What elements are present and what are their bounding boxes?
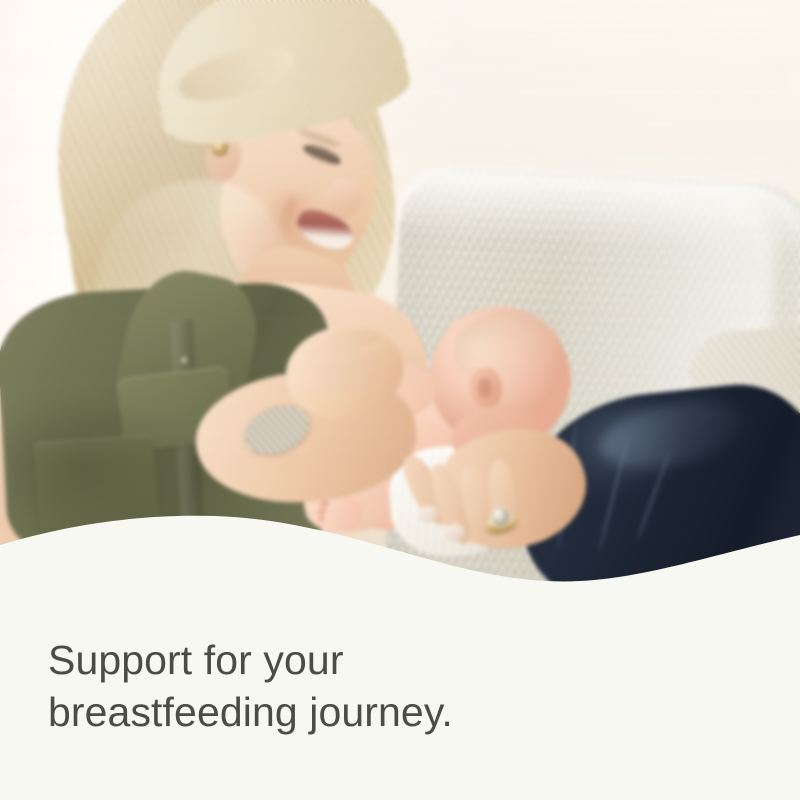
baby-toe: [318, 508, 326, 515]
caption-line-1: Support for your: [48, 634, 688, 686]
baby-ear-inner: [478, 378, 492, 398]
caption-block: Support for your breastfeeding journey.: [48, 634, 688, 738]
baby-toe: [318, 516, 325, 522]
caption-line-2: breastfeeding journey.: [48, 686, 688, 738]
mother-top-button: [180, 356, 188, 364]
promo-card: Support for your breastfeeding journey.: [0, 0, 800, 800]
baby-toe: [320, 500, 329, 507]
hero-photo: [0, 0, 800, 620]
